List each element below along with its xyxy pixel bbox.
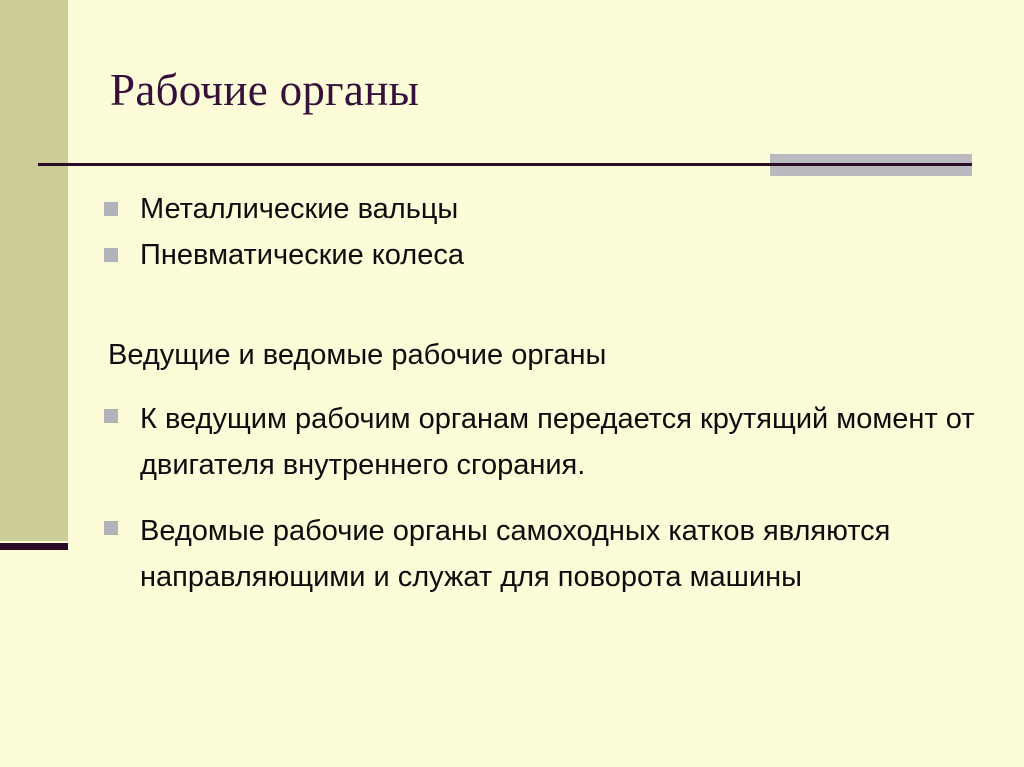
list-item: Металлические вальцы [104,190,994,228]
list-item-label: К ведущим рабочим органам передается кру… [140,396,994,488]
square-bullet-icon [104,248,118,262]
square-bullet-icon [104,202,118,216]
detail-bullet-list: К ведущим рабочим органам передается кру… [104,396,994,600]
presentation-slide: Рабочие органы Металлические вальцы Пнев… [0,0,1024,767]
left-accent-band-cap [0,543,68,550]
list-item: Ведомые рабочие органы самоходных катков… [104,508,994,600]
square-bullet-icon [104,521,118,535]
list-item-label: Металлические вальцы [140,190,994,228]
list-item: Пневматические колеса [104,236,994,274]
square-bullet-icon [104,409,118,423]
slide-title: Рабочие органы [110,62,930,118]
list-item-label: Ведомые рабочие органы самоходных катков… [140,508,994,600]
title-divider-rule [38,163,972,166]
top-bullet-list: Металлические вальцы Пневматические коле… [104,190,994,274]
list-item-label: Пневматические колеса [140,236,994,274]
slide-body: Металлические вальцы Пневматические коле… [104,190,994,620]
list-item: К ведущим рабочим органам передается кру… [104,396,994,488]
section-lead-in-text: Ведущие и ведомые рабочие органы [108,336,994,374]
left-accent-band [0,0,68,541]
